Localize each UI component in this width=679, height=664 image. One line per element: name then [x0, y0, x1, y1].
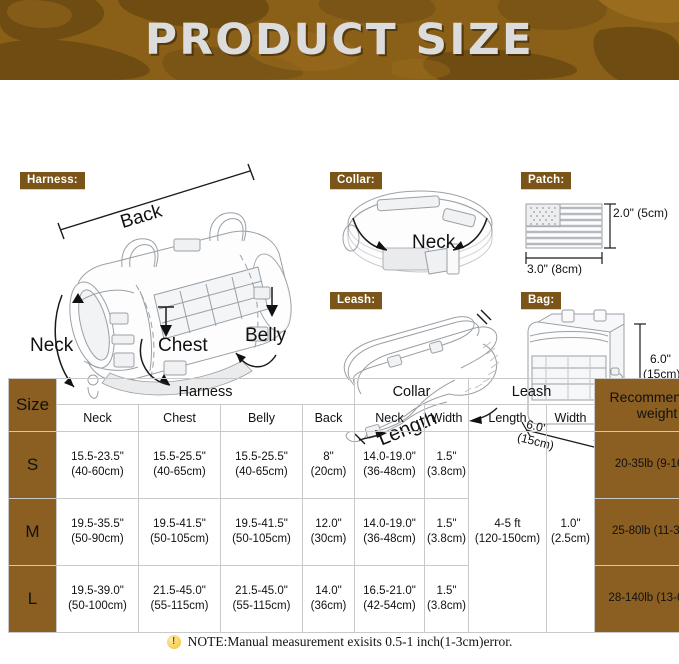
value-cm: (20cm)	[304, 465, 353, 480]
cell-harness-neck: 19.5-39.0" (50-100cm)	[57, 566, 139, 633]
cell-recommended-weight: 28-140lb (13-64kg)	[595, 566, 679, 633]
header-size: Size	[9, 379, 57, 432]
value-cm: (2.5cm)	[548, 532, 593, 547]
subheader-collar-neck: Neck	[355, 405, 425, 432]
value-cm: (50-105cm)	[140, 532, 219, 547]
value-in: 19.5-41.5"	[153, 518, 206, 530]
bag-height-dimension: 6.0"	[650, 353, 671, 367]
value-lb: 25-80lb	[612, 525, 650, 537]
value-in: 4-5 ft	[494, 518, 520, 530]
size-table-container: Size Harness Collar Leash Recommended we…	[8, 378, 671, 633]
subheader-collar-width: Width	[425, 405, 469, 432]
subheader-harness-belly: Belly	[221, 405, 303, 432]
value-in: 14.0"	[315, 585, 341, 597]
header-banner: PRODUCT SIZE	[0, 0, 679, 80]
value-cm: (3.8cm)	[426, 599, 467, 614]
value-in: 15.5-25.5"	[235, 451, 288, 463]
value-cm: (3.8cm)	[426, 465, 467, 480]
cell-collar-neck: 16.5-21.0" (42-54cm)	[355, 566, 425, 633]
note-text: NOTE:Manual measurement exisits 0.5-1 in…	[188, 634, 513, 650]
value-kg: (13-64kg)	[656, 592, 679, 604]
subheader-harness-neck: Neck	[57, 405, 139, 432]
cell-size: M	[9, 499, 57, 566]
cell-harness-chest: 19.5-41.5" (50-105cm)	[139, 499, 221, 566]
value-cm: (50-90cm)	[58, 532, 137, 547]
value-in: 1.5"	[436, 451, 456, 463]
value-in: 14.0-19.0"	[363, 451, 416, 463]
cell-recommended-weight: 25-80lb (11-36kg)	[595, 499, 679, 566]
cell-leash-length: 4-5 ft (120-150cm)	[469, 432, 547, 633]
subheader-leash-length: Length	[469, 405, 547, 432]
cell-collar-width: 1.5" (3.8cm)	[425, 499, 469, 566]
cell-harness-belly: 21.5-45.0" (55-115cm)	[221, 566, 303, 633]
cell-collar-width: 1.5" (3.8cm)	[425, 432, 469, 499]
value-in: 19.5-35.5"	[71, 518, 124, 530]
value-in: 14.0-19.0"	[363, 518, 416, 530]
cell-harness-belly: 15.5-25.5" (40-65cm)	[221, 432, 303, 499]
bag-section-label: Bag:	[521, 292, 561, 309]
patch-height-dimension: 2.0" (5cm)	[613, 207, 668, 221]
value-cm: (50-105cm)	[222, 532, 301, 547]
collar-neck-label: Neck	[412, 232, 455, 254]
table-row: S 15.5-23.5" (40-60cm) 15.5-25.5" (40-65…	[9, 432, 679, 499]
header-group-leash: Leash	[469, 379, 595, 405]
value-in: 12.0"	[315, 518, 341, 530]
value-cm: (36-48cm)	[356, 532, 423, 547]
product-size-infographic: PRODUCT SIZE Harness:	[0, 0, 679, 664]
note-row: ! NOTE:Manual measurement exisits 0.5-1 …	[0, 634, 679, 650]
cell-collar-neck: 14.0-19.0" (36-48cm)	[355, 499, 425, 566]
cell-size: S	[9, 432, 57, 499]
value-cm: (36-48cm)	[356, 465, 423, 480]
harness-neck-label: Neck	[30, 335, 73, 357]
value-kg: (11-36kg)	[654, 525, 679, 537]
header-group-harness: Harness	[57, 379, 355, 405]
patch-width-dimension: 3.0" (8cm)	[527, 263, 582, 277]
cell-harness-neck: 19.5-35.5" (50-90cm)	[57, 499, 139, 566]
value-cm: (50-100cm)	[58, 599, 137, 614]
cell-harness-back: 12.0" (30cm)	[303, 499, 355, 566]
value-in: 8"	[323, 451, 333, 463]
header-group-collar: Collar	[355, 379, 469, 405]
cell-harness-neck: 15.5-23.5" (40-60cm)	[57, 432, 139, 499]
cell-recommended-weight: 20-35lb (9-16kg)	[595, 432, 679, 499]
value-in: 1.5"	[436, 585, 456, 597]
patch-section-label: Patch:	[521, 172, 571, 189]
value-cm: (40-60cm)	[58, 465, 137, 480]
table-subheader-row: Neck Chest Belly Back Neck Width Length …	[9, 405, 679, 432]
cell-collar-width: 1.5" (3.8cm)	[425, 566, 469, 633]
value-in: 21.5-45.0"	[153, 585, 206, 597]
illustration-area: Harness:	[0, 80, 679, 376]
subheader-harness-chest: Chest	[139, 405, 221, 432]
value-in: 21.5-45.0"	[235, 585, 288, 597]
cell-collar-neck: 14.0-19.0" (36-48cm)	[355, 432, 425, 499]
cell-harness-back: 8" (20cm)	[303, 432, 355, 499]
value-cm: (40-65cm)	[222, 465, 301, 480]
value-cm: (36cm)	[304, 599, 353, 614]
cell-harness-chest: 21.5-45.0" (55-115cm)	[139, 566, 221, 633]
cell-harness-chest: 15.5-25.5" (40-65cm)	[139, 432, 221, 499]
value-cm: (120-150cm)	[470, 532, 545, 547]
value-cm: (55-115cm)	[222, 599, 301, 614]
warning-icon: !	[167, 635, 181, 649]
value-in: 15.5-23.5"	[71, 451, 124, 463]
value-cm: (40-65cm)	[140, 465, 219, 480]
harness-chest-label: Chest	[158, 335, 208, 357]
value-in: 16.5-21.0"	[363, 585, 416, 597]
value-in: 1.0"	[560, 518, 580, 530]
value-lb: 20-35lb	[615, 458, 653, 470]
cell-leash-width: 1.0" (2.5cm)	[547, 432, 595, 633]
value-kg: (9-16kg)	[656, 458, 679, 470]
value-cm: (30cm)	[304, 532, 353, 547]
harness-belly-label: Belly	[245, 325, 286, 347]
value-cm: (3.8cm)	[426, 532, 467, 547]
page-title: PRODUCT SIZE	[0, 0, 679, 80]
value-in: 19.5-41.5"	[235, 518, 288, 530]
header-recommended-weight: Recommended weight	[595, 379, 679, 432]
value-in: 1.5"	[436, 518, 456, 530]
table-group-header-row: Size Harness Collar Leash Recommended we…	[9, 379, 679, 405]
subheader-harness-back: Back	[303, 405, 355, 432]
value-cm: (55-115cm)	[140, 599, 219, 614]
cell-harness-belly: 19.5-41.5" (50-105cm)	[221, 499, 303, 566]
subheader-leash-width: Width	[547, 405, 595, 432]
cell-size: L	[9, 566, 57, 633]
cell-harness-back: 14.0" (36cm)	[303, 566, 355, 633]
value-in: 15.5-25.5"	[153, 451, 206, 463]
value-cm: (42-54cm)	[356, 599, 423, 614]
size-table: Size Harness Collar Leash Recommended we…	[8, 378, 679, 633]
value-lb: 28-140lb	[608, 592, 653, 604]
value-in: 19.5-39.0"	[71, 585, 124, 597]
